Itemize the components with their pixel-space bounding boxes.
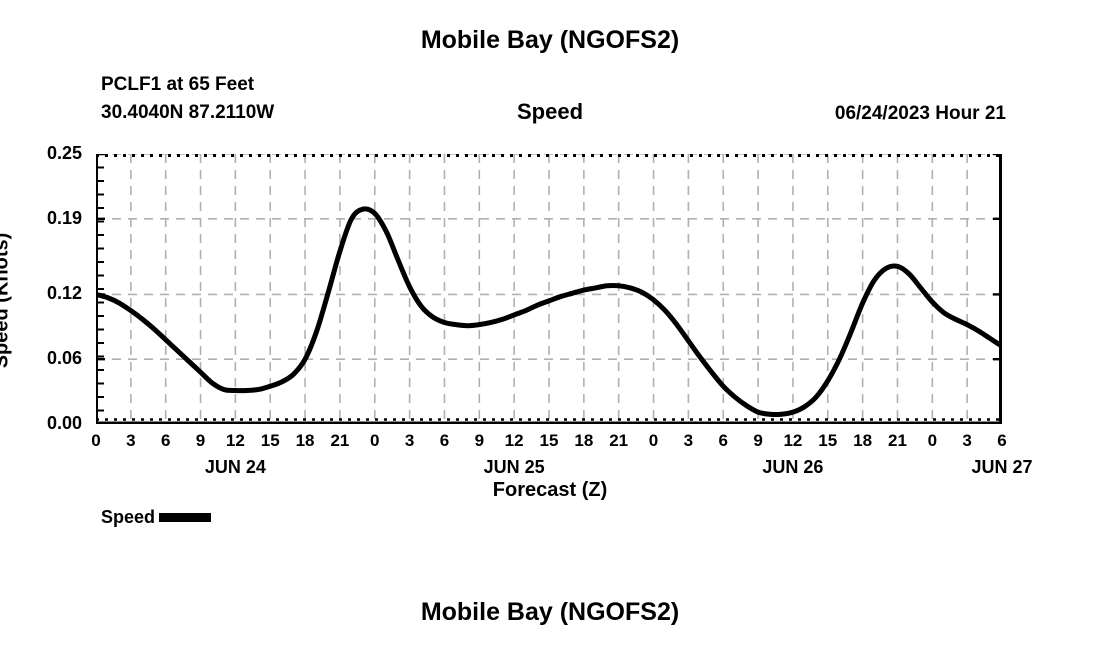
x-tick-label: 6 bbox=[985, 431, 1019, 451]
bottom-title: Mobile Bay (NGOFS2) bbox=[0, 598, 1100, 627]
x-tick-label: 21 bbox=[323, 431, 357, 451]
run-time-label: 06/24/2023 Hour 21 bbox=[0, 103, 1006, 125]
x-axis-title: Forecast (Z) bbox=[0, 479, 1100, 502]
x-tick-label: 21 bbox=[880, 431, 914, 451]
x-tick-label: 0 bbox=[915, 431, 949, 451]
day-label: JUN 26 bbox=[723, 457, 863, 478]
x-tick-label: 3 bbox=[950, 431, 984, 451]
y-tick-label: 0.12 bbox=[12, 283, 82, 304]
x-tick-label: 15 bbox=[532, 431, 566, 451]
x-tick-label: 12 bbox=[776, 431, 810, 451]
x-tick-label: 6 bbox=[149, 431, 183, 451]
x-tick-label: 3 bbox=[671, 431, 705, 451]
station-label: PCLF1 at 65 Feet bbox=[101, 74, 254, 96]
day-label: JUN 24 bbox=[165, 457, 305, 478]
legend-label: Speed bbox=[101, 507, 155, 528]
chart-svg bbox=[96, 154, 1002, 424]
day-label: JUN 25 bbox=[444, 457, 584, 478]
x-tick-label: 0 bbox=[358, 431, 392, 451]
x-tick-label: 9 bbox=[184, 431, 218, 451]
x-tick-label: 15 bbox=[253, 431, 287, 451]
x-tick-label: 9 bbox=[462, 431, 496, 451]
y-tick-label: 0.25 bbox=[12, 143, 82, 164]
x-tick-label: 12 bbox=[218, 431, 252, 451]
x-tick-label: 6 bbox=[427, 431, 461, 451]
chart-page: Mobile Bay (NGOFS2) PCLF1 at 65 Feet 30.… bbox=[0, 0, 1100, 650]
gridlines bbox=[96, 154, 1002, 424]
y-tick-label: 0.19 bbox=[12, 208, 82, 229]
x-tick-label: 0 bbox=[637, 431, 671, 451]
x-tick-label: 15 bbox=[811, 431, 845, 451]
x-tick-label: 21 bbox=[602, 431, 636, 451]
x-tick-label: 3 bbox=[114, 431, 148, 451]
x-tick-label: 6 bbox=[706, 431, 740, 451]
y-tick-label: 0.00 bbox=[12, 413, 82, 434]
legend: Speed bbox=[101, 507, 211, 528]
x-tick-label: 3 bbox=[393, 431, 427, 451]
day-label: JUN 27 bbox=[932, 457, 1072, 478]
legend-line-swatch bbox=[159, 513, 211, 522]
x-tick-label: 12 bbox=[497, 431, 531, 451]
x-tick-label: 9 bbox=[741, 431, 775, 451]
x-tick-label: 18 bbox=[567, 431, 601, 451]
x-tick-label: 18 bbox=[846, 431, 880, 451]
x-tick-label: 18 bbox=[288, 431, 322, 451]
page-title: Mobile Bay (NGOFS2) bbox=[0, 26, 1100, 55]
plot-area bbox=[96, 154, 1002, 424]
y-tick-label: 0.06 bbox=[12, 348, 82, 369]
x-tick-label: 0 bbox=[79, 431, 113, 451]
